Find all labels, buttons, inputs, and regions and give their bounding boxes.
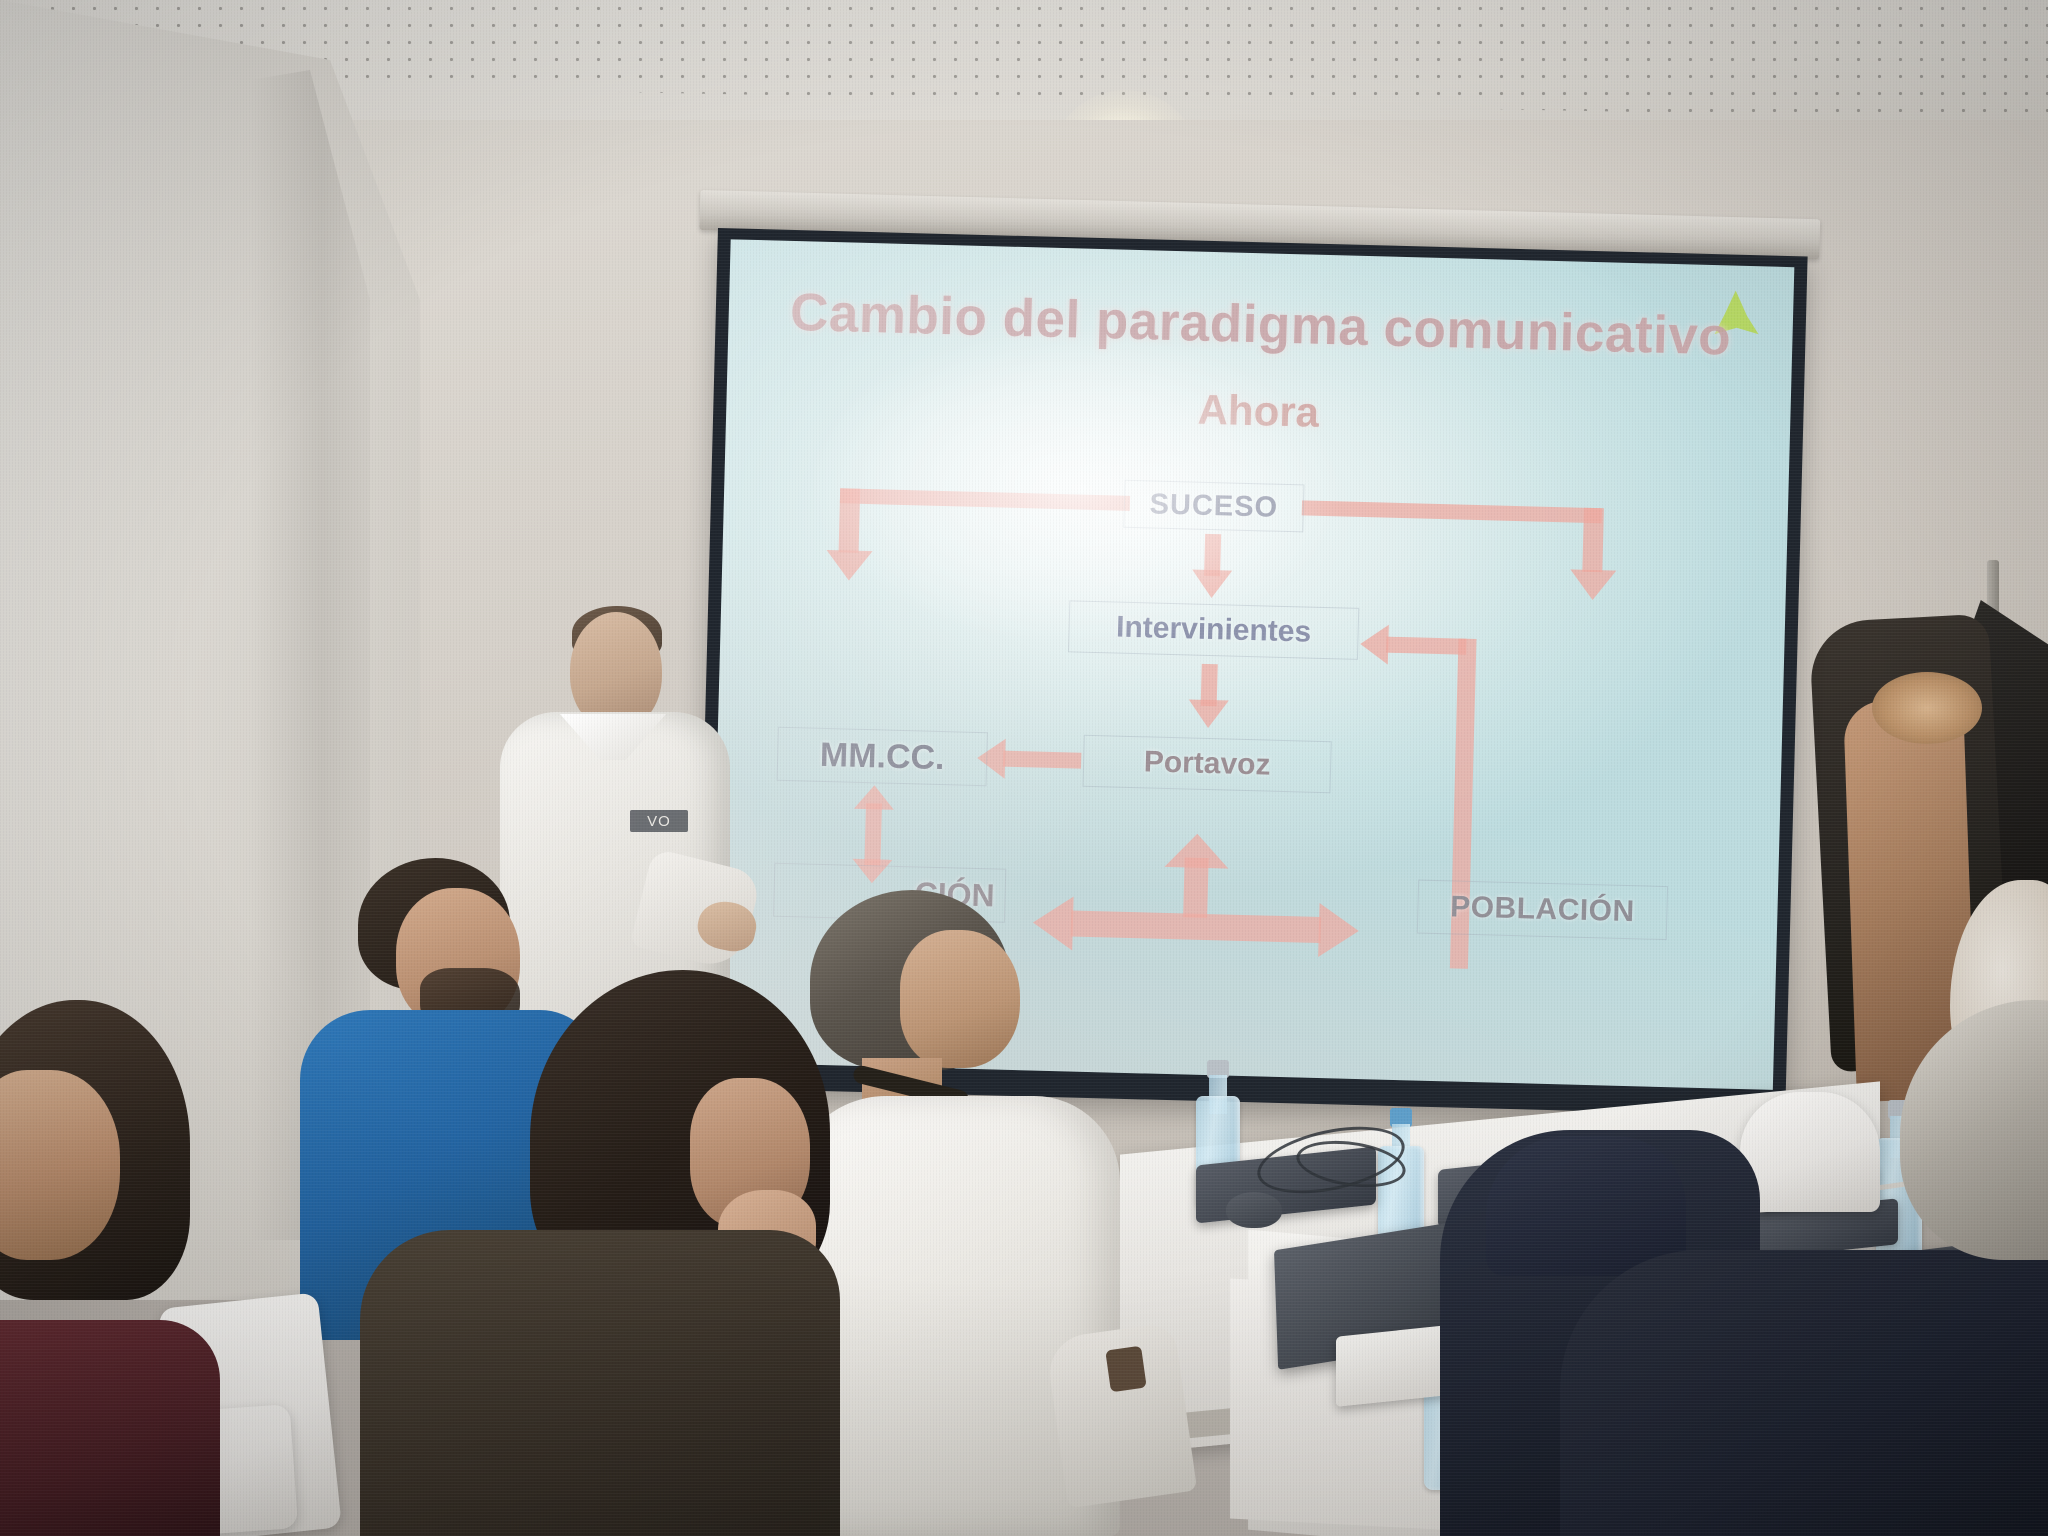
attendee-navy-cap-hat [1486, 1136, 1686, 1276]
arrow-suceso-left-stem [839, 488, 861, 553]
attendee-foreground-left-torso [0, 1320, 220, 1536]
arrow-suceso-right [1302, 500, 1602, 523]
arrow-mmcc-up-head [854, 785, 895, 810]
presenter-shirt-logo: VO [630, 810, 688, 832]
arrow-mmcc-vertical [864, 803, 882, 865]
arrow-bottom-up-head [1164, 833, 1229, 869]
diagram-node-poblacion: POBLACIÓN [1417, 880, 1668, 941]
diagram-node-mmcc: MM.CC. [777, 727, 988, 786]
slide-title: Cambio del paradigma comunicativo [758, 284, 1763, 366]
conference-room-photo: Cambio del paradigma comunicativo Ahora [0, 0, 2048, 1536]
arrow-suceso-to-intervinientes-head [1191, 570, 1232, 599]
diagram-node-suceso: SUCESO [1123, 480, 1304, 533]
arrow-intervinientes-to-portavoz-head [1188, 699, 1229, 728]
arrow-suceso-right-head [1570, 569, 1617, 600]
arrow-bottom-left-head [1032, 895, 1073, 950]
arrow-suceso-right-stem [1582, 508, 1604, 573]
arrow-suceso-left [840, 488, 1130, 511]
slide-subtitle: Ahora [756, 374, 1761, 448]
diagram-node-portavoz: Portavoz [1082, 735, 1331, 793]
arrow-bottom-right-head [1318, 903, 1359, 958]
chair [1740, 1092, 1880, 1212]
arrow-portavoz-to-mmcc [1003, 751, 1081, 769]
attendee-gray-hair-torso [1560, 1250, 2048, 1536]
attendee-white-top-watch [1105, 1346, 1146, 1393]
diagram-node-intervinientes: Intervinientes [1068, 600, 1359, 660]
arrow-right-column-branch [1386, 637, 1466, 655]
arrow-suceso-left-head [826, 550, 873, 581]
attendee-dark-hair-torso [360, 1230, 840, 1536]
fur-collar [1872, 672, 1982, 744]
attendee-white-top-head [900, 930, 1020, 1068]
computer-mouse [1226, 1192, 1282, 1228]
arrow-right-column-head [1360, 624, 1389, 665]
